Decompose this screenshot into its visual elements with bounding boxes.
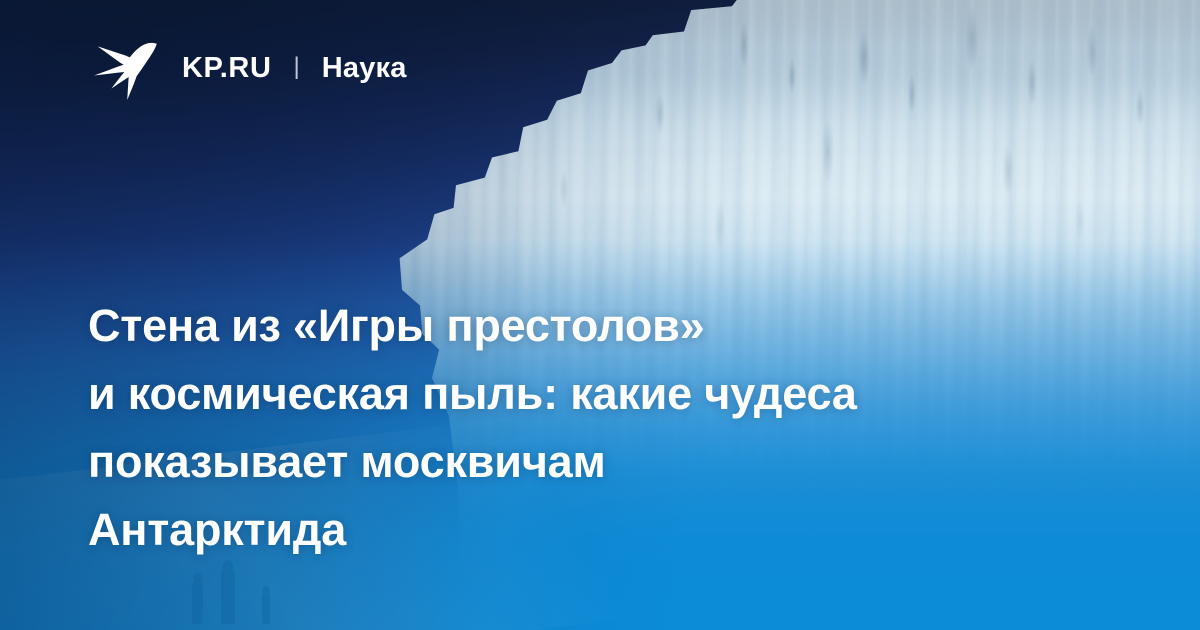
headline-line-4: Антарктида xyxy=(88,496,857,564)
person-silhouette xyxy=(262,592,270,624)
page-title: Стена из «Игры престолов» и космическая … xyxy=(88,292,857,564)
brand-separator: | xyxy=(294,55,300,79)
headline-line-1: Стена из «Игры престолов» xyxy=(88,292,857,360)
headline-line-3: показывает москвичам xyxy=(88,428,857,496)
swallow-bird-logo-icon xyxy=(88,32,160,104)
person-silhouette xyxy=(192,580,203,624)
brand-section-name[interactable]: Наука xyxy=(322,54,407,83)
headline-line-2: и космическая пыль: какие чудеса xyxy=(88,360,857,428)
brand-header[interactable]: KP.RU | Наука xyxy=(88,32,407,104)
brand-text-group: KP.RU | Наука xyxy=(182,54,407,83)
person-silhouette xyxy=(221,568,235,624)
social-share-card: KP.RU | Наука Стена из «Игры престолов» … xyxy=(0,0,1200,630)
people-silhouettes xyxy=(190,558,310,624)
brand-name[interactable]: KP.RU xyxy=(182,54,272,83)
